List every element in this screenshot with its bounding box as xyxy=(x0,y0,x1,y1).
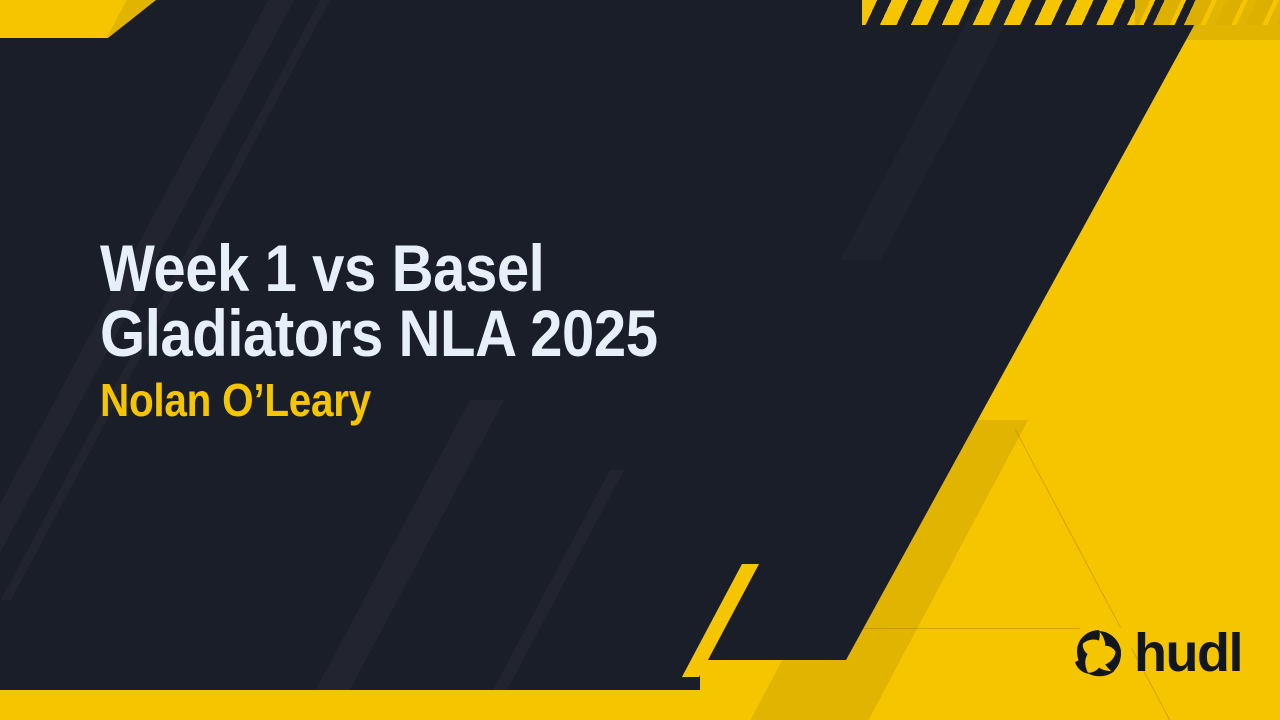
title-card-slide: Week 1 vs Basel Gladiators NLA 2025 Nola… xyxy=(0,0,1280,720)
hazard-stripes-top-right-overlay xyxy=(1135,0,1280,25)
panel-sheen-4 xyxy=(450,470,624,720)
hazard-stripes-bottom-left-pattern xyxy=(0,696,420,720)
hazard-stripes-bottom-left xyxy=(0,696,420,720)
hudl-swirl-icon xyxy=(1073,627,1125,679)
panel-sheen-5 xyxy=(840,0,1040,260)
author-subtitle: Nolan O’Leary xyxy=(100,377,769,423)
page-title: Week 1 vs Basel Gladiators NLA 2025 xyxy=(100,236,769,365)
hudl-wordmark: hudl xyxy=(1134,626,1242,680)
hudl-logo: hudl xyxy=(1073,626,1242,680)
hazard-stripes-top-right-overlay-pattern xyxy=(1135,0,1280,25)
title-text-block: Week 1 vs Basel Gladiators NLA 2025 Nola… xyxy=(100,236,860,423)
panel-sheen-3 xyxy=(279,400,504,720)
hairline-bottom-right-horizontal xyxy=(840,628,1080,629)
